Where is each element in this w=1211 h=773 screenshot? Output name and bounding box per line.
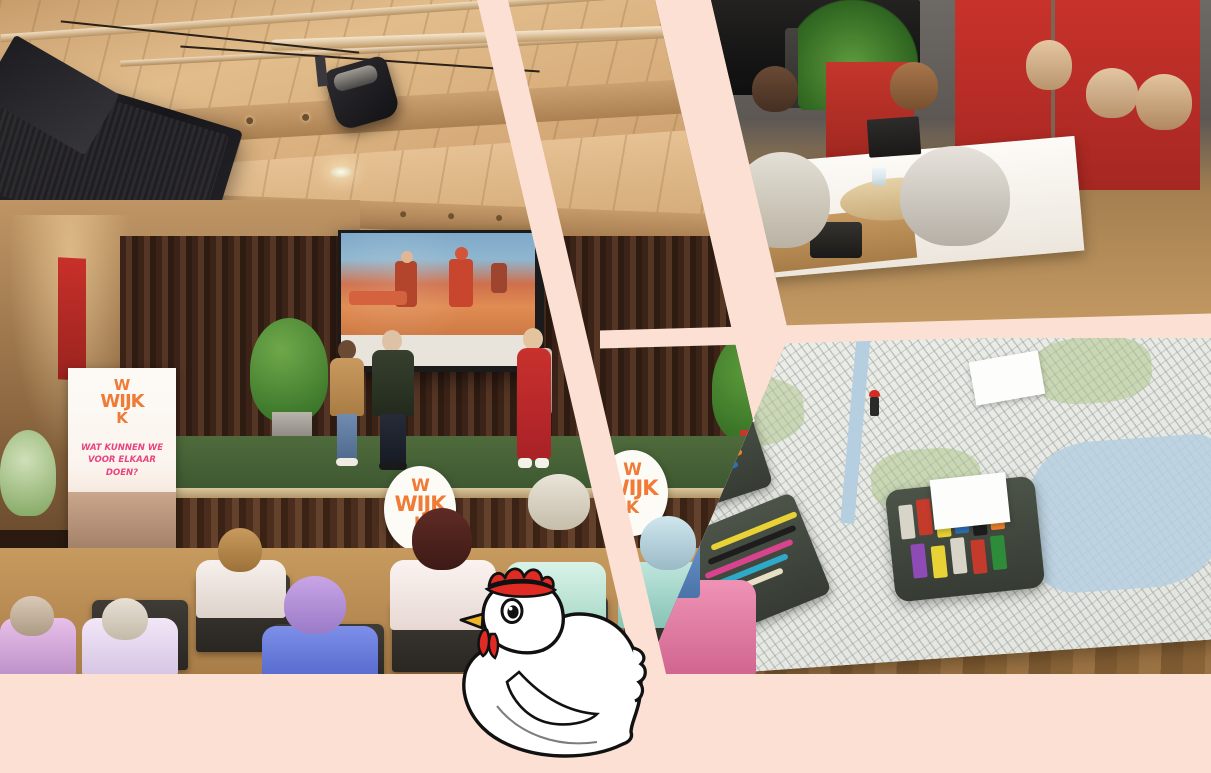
rollup-banner: W WIJK K WAT KUNNEN WE VOOR ELKAAR DOEN? xyxy=(68,368,176,558)
participant-head xyxy=(890,62,938,110)
projection-screen-image xyxy=(341,233,535,335)
potted-flowers xyxy=(0,430,56,516)
presenter-woman-red-dress xyxy=(515,328,553,474)
presenter-woman-cardigan xyxy=(330,340,364,470)
audience-head xyxy=(218,528,262,572)
projection-screen-lower xyxy=(341,335,535,366)
banner-logo: W WIJK K xyxy=(68,378,176,426)
ceiling-downlight xyxy=(330,166,352,178)
participant-head xyxy=(734,152,830,248)
note-card xyxy=(930,472,1011,530)
participant-head xyxy=(1026,40,1072,90)
banner-slogan-line-1: WAT KUNNEN WE xyxy=(74,442,170,454)
presenter-man-suit xyxy=(372,330,414,472)
drinking-glass xyxy=(872,168,886,186)
audience-head xyxy=(10,596,54,636)
poster-page: W WIJK K W WIJK K W WIJK K xyxy=(0,0,1211,773)
participant-head xyxy=(900,146,1010,246)
audience-head xyxy=(528,474,590,530)
stage-floor xyxy=(120,436,812,494)
participant-head xyxy=(1136,74,1192,130)
potted-plant xyxy=(250,318,328,422)
banner-logo-line-3: K xyxy=(68,411,176,426)
audience-head xyxy=(284,576,346,634)
participant-head xyxy=(752,66,798,112)
laptop xyxy=(867,116,922,158)
chicken-mascot xyxy=(447,556,667,773)
banner-slogan-line-2: VOOR ELKAAR DOEN? xyxy=(74,454,170,479)
red-door xyxy=(58,257,86,380)
banner-slogan: WAT KUNNEN WE VOOR ELKAAR DOEN? xyxy=(74,442,170,479)
map-waterway xyxy=(1027,433,1211,596)
participant-head xyxy=(1086,68,1138,118)
playmobil-figure-on-map xyxy=(868,390,881,416)
audience-head xyxy=(102,598,148,640)
